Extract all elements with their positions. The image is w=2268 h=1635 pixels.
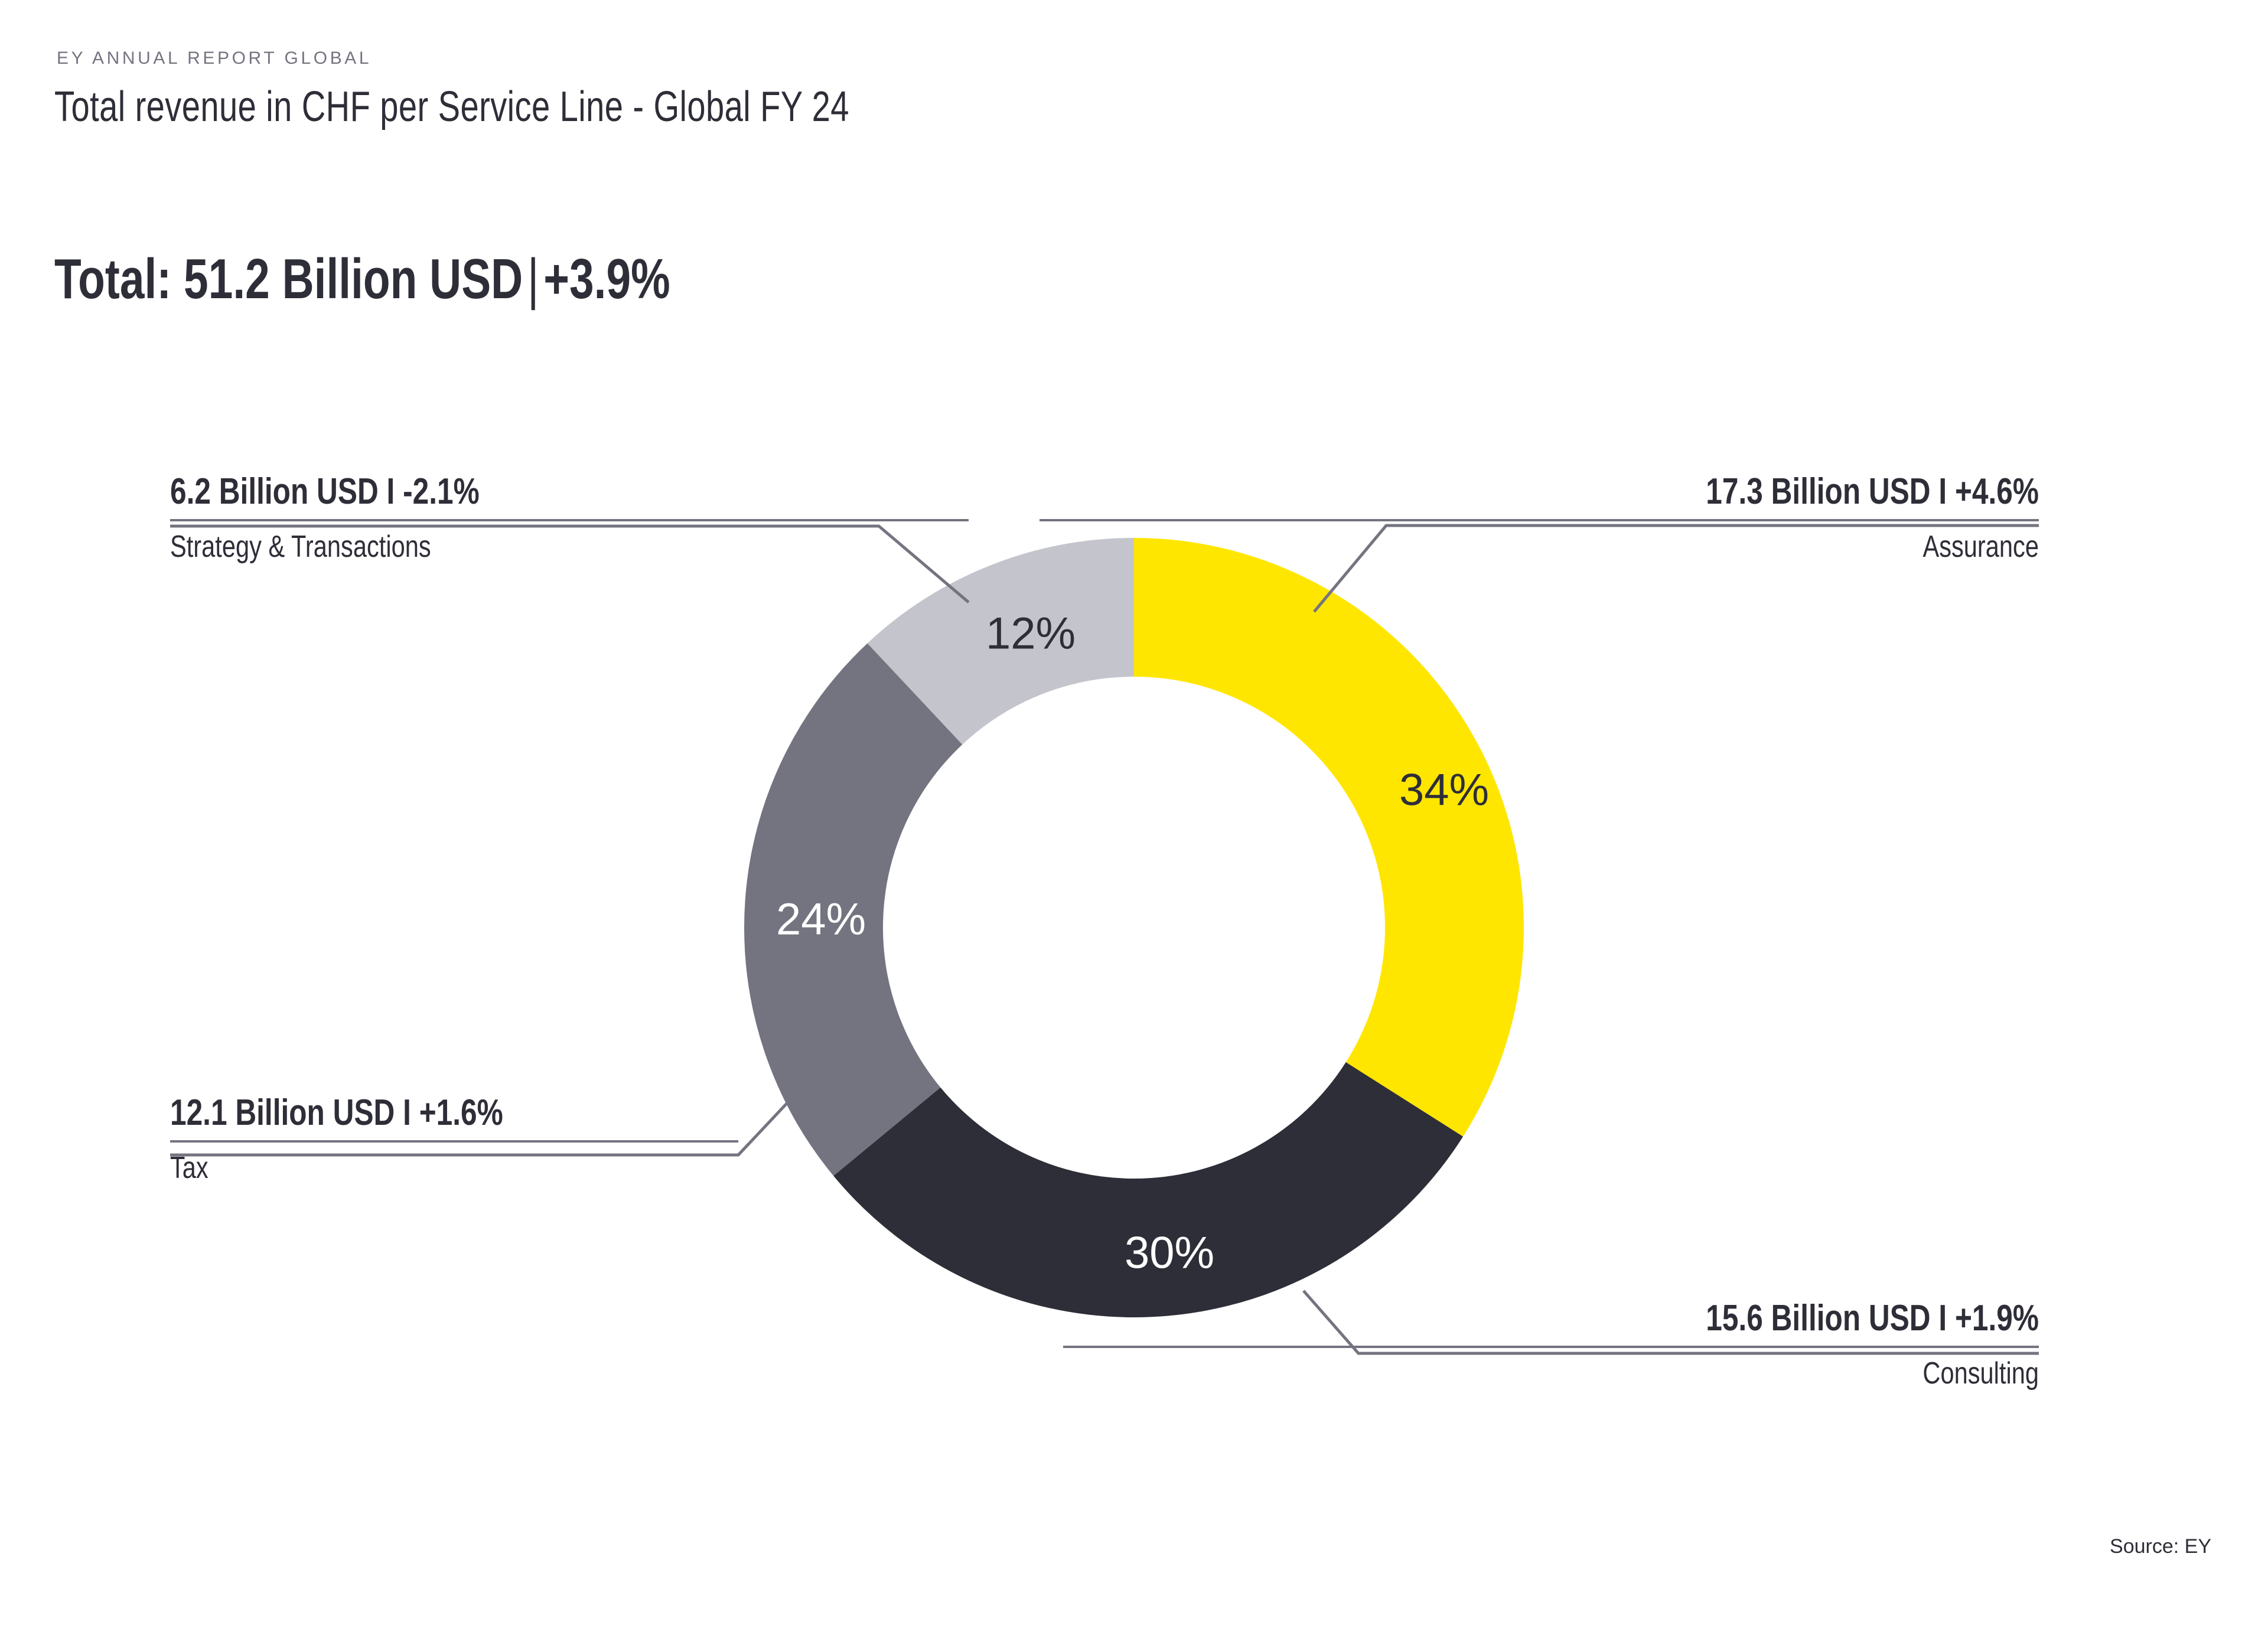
callout-strategy-value: 6.2 Billion USD I -2.1% bbox=[170, 472, 809, 511]
callout-consulting-rule bbox=[1063, 1346, 2039, 1348]
callout-consulting: 15.6 Billion USD I +1.9% Consulting bbox=[1063, 1299, 2039, 1390]
callout-assurance-value: 17.3 Billion USD I +4.6% bbox=[1239, 472, 2039, 511]
callout-tax-value: 12.1 Billion USD I +1.6% bbox=[170, 1094, 625, 1132]
percent-label-tax: 24% bbox=[776, 894, 866, 945]
callout-tax-name: Tax bbox=[170, 1152, 625, 1184]
callout-strategy-name: Strategy & Transactions bbox=[170, 531, 809, 563]
callout-consulting-value: 15.6 Billion USD I +1.9% bbox=[1258, 1299, 2039, 1337]
percent-label-strategy: 12% bbox=[986, 608, 1076, 660]
callout-assurance-rule bbox=[1039, 519, 2039, 521]
callout-consulting-name: Consulting bbox=[1258, 1357, 2039, 1390]
donut-chart: 34% 30% 24% 12% 6.2 Billion USD I -2.1% … bbox=[0, 0, 2268, 1635]
percent-label-assurance: 34% bbox=[1399, 765, 1489, 816]
callout-assurance-name: Assurance bbox=[1239, 531, 2039, 563]
source-note: Source: EY bbox=[2110, 1535, 2211, 1558]
callout-tax: 12.1 Billion USD I +1.6% Tax bbox=[170, 1094, 738, 1184]
callout-strategy-transactions: 6.2 Billion USD I -2.1% Strategy & Trans… bbox=[170, 472, 969, 563]
callout-tax-rule bbox=[170, 1140, 738, 1143]
percent-label-consulting: 30% bbox=[1125, 1228, 1214, 1279]
callout-assurance: 17.3 Billion USD I +4.6% Assurance bbox=[1039, 472, 2039, 563]
callout-strategy-rule bbox=[170, 519, 969, 521]
